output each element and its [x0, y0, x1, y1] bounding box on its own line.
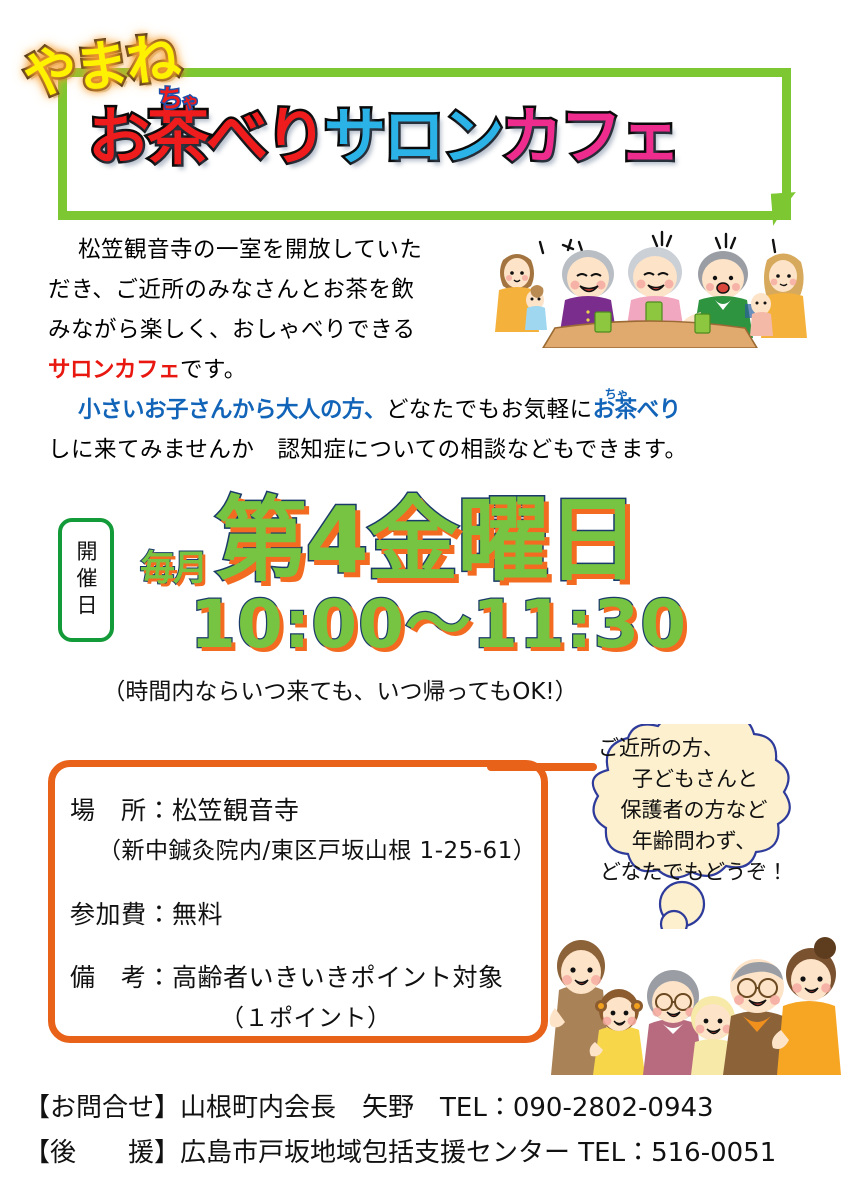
bubble-line-5: どなたでもどうぞ！ [566, 857, 822, 888]
info-place-label: 場 所： [70, 796, 172, 825]
all-ages-emphasis: 小さいお子さんから大人の方、 [78, 397, 386, 423]
footer-contact-tel-label: TEL： [440, 1093, 513, 1123]
footer-contacts: 【お問合せ】山根町内会長 矢野 TEL：090-2802-0943 【後 援】広… [24, 1086, 834, 1176]
schedule-time: 10:00〜11:30 [190, 592, 687, 658]
info-spacer-2 [70, 935, 590, 957]
intro-line-1: 松笠観音寺の一室を開放していた [48, 230, 848, 270]
flyer-page: やまね ちゃ お茶べりサロンカフェ [0, 0, 849, 1200]
info-fee-label: 参加費： [70, 900, 172, 929]
footer-contact-line: 【お問合せ】山根町内会長 矢野 TEL：090-2802-0943 [24, 1086, 834, 1131]
schedule-label-box: 開催日 [58, 518, 114, 642]
info-box-content: 場 所：松笠観音寺 （新中鍼灸院内/東区戸坂山根 1-25-61） 参加費：無料… [70, 790, 590, 1039]
intro-line-6: しに来てみませんか 認知症についての相談などもできます。 [48, 430, 848, 470]
schedule-label-text: 開催日 [71, 540, 101, 621]
info-place-address: （新中鍼灸院内/東区戸坂山根 1-25-61） [70, 831, 590, 872]
schedule-day: 第4金曜日 [215, 495, 637, 587]
intro-line-3: みながら楽しく、おしゃべりできる [48, 310, 848, 350]
bubble-line-4: 年齢問わず、 [566, 826, 822, 857]
footer-support-label: 【後 援】 [24, 1138, 180, 1168]
footer-contact-label: 【お問合せ】 [24, 1093, 180, 1123]
footer-contact-tel: 090-2802-0943 [513, 1093, 714, 1123]
intro-line-4: サロンカフェです。 [48, 350, 848, 390]
ochaberi-emphasis: ちゃお茶べり [593, 390, 681, 430]
bubble-line-3: 保護者の方など [566, 795, 822, 826]
bubble-line-2: 子どもさんと [566, 764, 822, 795]
info-note-label: 備 考： [70, 963, 172, 992]
info-note-sub: （１ポイント） [70, 998, 590, 1039]
intro-line-4-rest: です。 [180, 357, 247, 383]
intro-line-5-middle: どなたでもお気軽に [386, 397, 593, 423]
bubble-line-1: ご近所の方、 [566, 733, 822, 764]
page-title: お茶べりサロンカフェ [88, 106, 678, 168]
footer-contact-name: 山根町内会長 矢野 [180, 1093, 414, 1123]
schedule-frequency: 毎月 [140, 540, 206, 591]
ochaberi-ruby: ちゃ [605, 374, 629, 414]
speech-bubble-text: ご近所の方、 子どもさんと 保護者の方など 年齢問わず、 どなたでもどうぞ！ [566, 733, 822, 888]
salon-cafe-emphasis: サロンカフェ [48, 357, 180, 383]
footer-support-name: 広島市戸坂地域包括支援センター [180, 1138, 570, 1168]
info-spacer-1 [70, 872, 590, 894]
intro-line-2: だき、ご近所のみなさんとお茶を飲 [48, 270, 848, 310]
title-frame-tail-icon [771, 192, 798, 226]
footer-support-tel-label: TEL： [578, 1138, 651, 1168]
intro-line-5: 小さいお子さんから大人の方、どなたでもお気軽にちゃお茶べり [48, 390, 848, 430]
info-note-row: 備 考：高齢者いきいきポイント対象 [70, 957, 590, 998]
footer-support-line: 【後 援】広島市戸坂地域包括支援センター TEL：516-0051 [24, 1131, 834, 1176]
title-part-cyan: サロン [324, 100, 501, 173]
title-part-red: お茶べり [88, 100, 324, 173]
info-fee-row: 参加費：無料 [70, 894, 590, 935]
schedule-note: （時間内ならいつ来ても、いつ帰ってもOK!） [0, 672, 680, 706]
info-fee-value: 無料 [172, 900, 223, 929]
info-place-row: 場 所：松笠観音寺 [70, 790, 590, 831]
intro-paragraph: 松笠観音寺の一室を開放していた だき、ご近所のみなさんとお茶を飲 みながら楽しく… [48, 230, 848, 470]
title-part-pink: カフェ [501, 100, 678, 173]
info-place-value: 松笠観音寺 [172, 796, 300, 825]
info-note-value: 高齢者いきいきポイント対象 [172, 963, 504, 992]
title-ruby-cha: ちゃ [158, 79, 198, 115]
three-generation-family-illustration [545, 930, 845, 1075]
footer-support-tel: 516-0051 [651, 1138, 776, 1168]
